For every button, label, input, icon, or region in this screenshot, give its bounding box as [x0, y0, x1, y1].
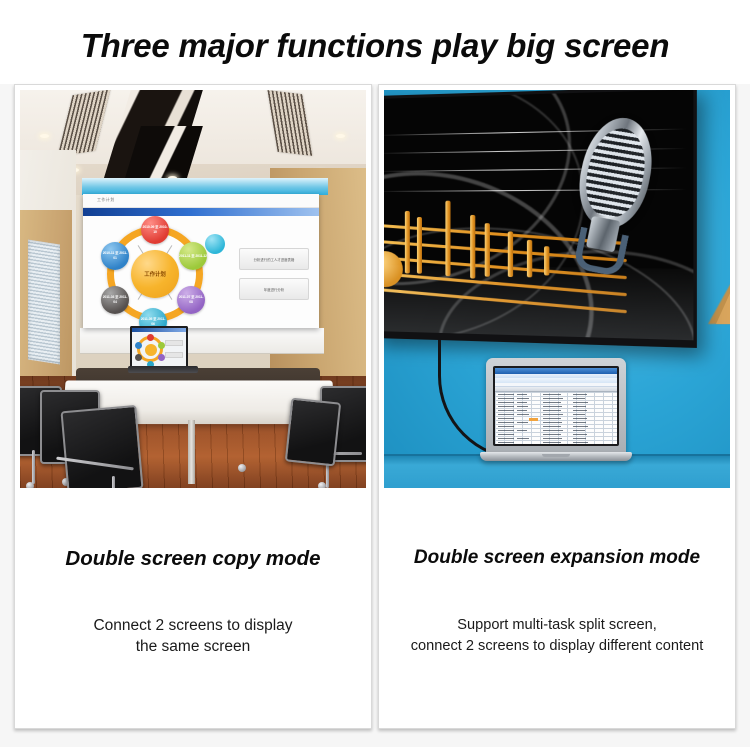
panel-double-screen-copy: 工作计划 工作计划 2010-09 至 2010-10 2011-11 至 20… — [14, 84, 372, 729]
microphone-grille — [571, 113, 661, 233]
panel-caption-body: Support multi-task split screen, connect… — [379, 615, 735, 657]
office-chair — [60, 405, 143, 488]
spreadsheet-grid — [495, 392, 617, 444]
spreadsheet-selected-cell — [529, 418, 538, 421]
screen-reflection — [384, 265, 693, 340]
downlight-icon — [40, 134, 49, 138]
table-leg — [188, 420, 195, 484]
panel-caption-line: Support multi-task split screen, — [379, 615, 735, 636]
tv-screen — [384, 90, 693, 340]
diagram-bubble: 2010-09 至 2010-10 — [141, 216, 169, 244]
diagram-hub: 工作计划 — [131, 250, 179, 298]
tv-and-laptop-photo — [384, 90, 730, 488]
panel-caption-body: Connect 2 screens to display the same sc… — [15, 615, 371, 657]
downlight-icon — [336, 134, 345, 138]
panel-caption-line: connect 2 screens to display different c… — [379, 636, 735, 657]
laptop-trackpad-notch — [542, 454, 570, 457]
projector-screen-header — [82, 178, 328, 195]
music-note — [405, 211, 410, 274]
laptop-slide-box — [165, 340, 183, 346]
diagram-bubble: 2011-07 至 2011-08 — [177, 286, 205, 314]
panel-caption-title: Double screen copy mode — [15, 547, 371, 571]
slide-text-box: 年度进行分析 — [239, 278, 309, 300]
diagram-bubble: 2010-11 至 2011-01 — [101, 242, 129, 270]
laptop-keyboard-base — [128, 366, 198, 373]
diagram-bubble: 2011-03 至 2011-04 — [101, 286, 129, 314]
diagram-accent-dot — [205, 234, 225, 254]
chair-caster — [238, 464, 246, 472]
laptop — [480, 358, 632, 470]
header: Three major functions play big screen — [0, 0, 750, 84]
laptop-diagram-hub — [145, 344, 157, 356]
panel-caption-line: the same screen — [15, 636, 371, 657]
music-note — [445, 201, 450, 276]
conference-room-photo: 工作计划 工作计划 2010-09 至 2010-10 2011-11 至 20… — [20, 90, 366, 488]
chair-leg — [112, 476, 115, 488]
slide-title-bar: 工作计划 — [83, 194, 319, 208]
panel-caption-title: Double screen expansion mode — [379, 547, 735, 569]
laptop-diagram-bubble — [158, 342, 165, 349]
panel-caption-line: Connect 2 screens to display — [15, 615, 371, 636]
laptop-screen — [493, 366, 619, 446]
laptop-screen — [130, 326, 188, 368]
laptop-diagram-bubble — [147, 334, 154, 341]
laptop-lid — [486, 358, 626, 454]
window-blinds — [28, 239, 60, 364]
office-chair — [285, 398, 341, 467]
slide-title-text: 工作计划 — [97, 197, 115, 203]
slide-accent-band — [83, 208, 319, 216]
diagram-bubble: 2011-11 至 2011-12 — [179, 242, 207, 270]
laptop-diagram-bubble — [135, 354, 142, 361]
whiteboard — [80, 328, 324, 354]
laptop-diagram-bubble — [135, 342, 142, 349]
panel-double-screen-expansion: Double screen expansion mode Support mul… — [378, 84, 736, 729]
page-title: Three major functions play big screen — [0, 27, 750, 65]
chair-caster — [318, 482, 326, 488]
laptop-diagram-bubble — [158, 354, 165, 361]
chair-leg — [32, 450, 35, 484]
wall-mounted-tv — [384, 90, 697, 348]
gold-object — [716, 280, 730, 324]
projector-screen: 工作计划 工作计划 2010-09 至 2010-10 2011-11 至 20… — [83, 194, 319, 328]
laptop-slide-box — [165, 352, 183, 358]
chair-caster — [26, 482, 34, 488]
laptop-slide-band — [132, 328, 186, 332]
slide-text-box: 分析进行的工人才进度表格 — [239, 248, 309, 270]
promo-banner: Three major functions play big screen — [0, 0, 750, 747]
spreadsheet-window — [495, 368, 617, 444]
